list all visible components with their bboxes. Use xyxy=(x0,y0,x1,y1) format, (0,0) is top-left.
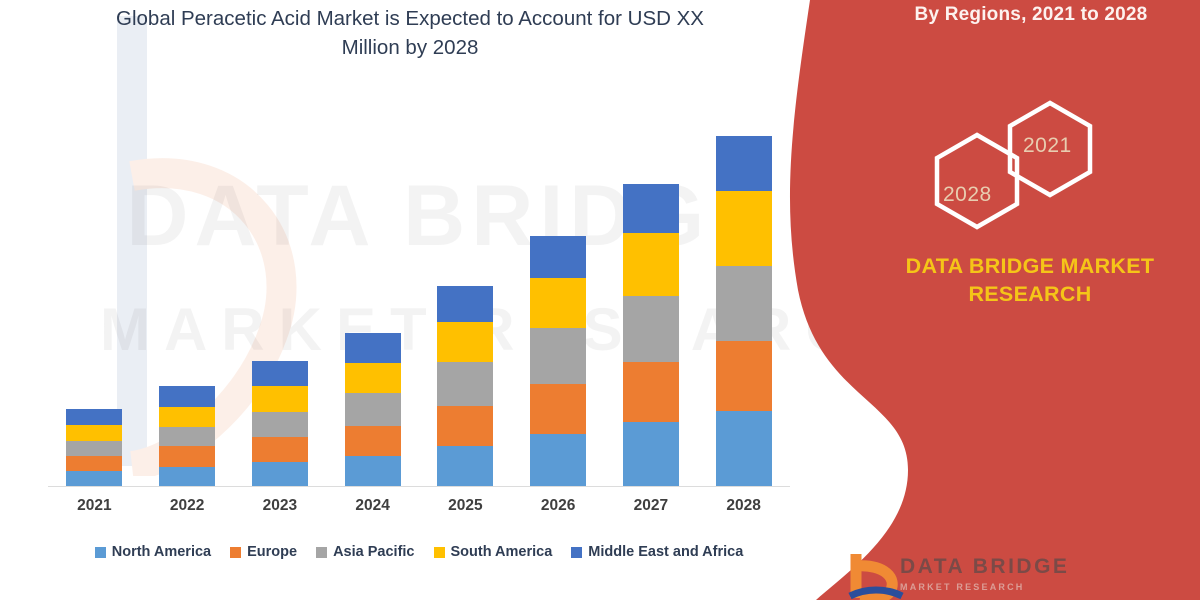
legend-swatch-icon xyxy=(95,547,106,558)
legend-swatch-icon xyxy=(230,547,241,558)
legend-item[interactable]: North America xyxy=(95,544,211,560)
logo-wordmark: DATA BRIDGE xyxy=(900,555,1069,579)
bar-segment xyxy=(623,184,679,233)
x-tick-2022: 2022 xyxy=(159,497,215,525)
bar-segment xyxy=(437,322,493,362)
bar-segment xyxy=(159,427,215,446)
legend-item[interactable]: Middle East and Africa xyxy=(571,544,743,560)
bar-segment xyxy=(530,278,586,328)
bar-segment xyxy=(530,384,586,434)
hexagon-2021-label: 2021 xyxy=(1023,134,1072,158)
bar-segment xyxy=(623,233,679,296)
bar-segment xyxy=(623,422,679,486)
page-title: Global Peracetic Acid Market is Expected… xyxy=(110,4,710,62)
bar-segment xyxy=(437,406,493,446)
hexagon-2028-outline xyxy=(937,135,1017,227)
company-logo: DATA BRIDGE MARKET RESEARCH xyxy=(840,552,1170,600)
legend-label: North America xyxy=(112,544,211,560)
bar-segment xyxy=(159,467,215,486)
legend-item[interactable]: Europe xyxy=(230,544,297,560)
x-tick-2027: 2027 xyxy=(623,497,679,525)
bar-segment xyxy=(159,386,215,407)
bar-segment xyxy=(252,386,308,412)
bar-column-2021 xyxy=(66,120,122,486)
bar-segment xyxy=(716,136,772,191)
bar-segment xyxy=(66,409,122,425)
bar-segment xyxy=(345,363,401,393)
bar-segment xyxy=(716,411,772,486)
x-tick-2023: 2023 xyxy=(252,497,308,525)
bar-segment xyxy=(66,471,122,486)
x-axis-labels: 20212022202320242025202620272028 xyxy=(48,497,790,525)
bar-segment xyxy=(530,328,586,384)
bar-segment xyxy=(437,362,493,406)
infographic-canvas: DATA BRIDGE MARKET RESEARCH Global Perac… xyxy=(0,0,1200,600)
bar-column-2027 xyxy=(623,120,679,486)
brand-line-1: DATA BRIDGE MARKET xyxy=(880,252,1180,280)
logo-tagline: MARKET RESEARCH xyxy=(900,582,1025,592)
x-tick-2028: 2028 xyxy=(716,497,772,525)
legend-swatch-icon xyxy=(571,547,582,558)
bar-segment xyxy=(66,441,122,456)
bar-segment xyxy=(252,361,308,386)
bar-column-2022 xyxy=(159,120,215,486)
brand-line-2: RESEARCH xyxy=(880,280,1180,308)
bar-segment xyxy=(437,286,493,322)
bar-segment xyxy=(530,434,586,486)
legend-swatch-icon xyxy=(434,547,445,558)
hexagon-2028-label: 2028 xyxy=(943,183,992,207)
bar-column-2026 xyxy=(530,120,586,486)
legend-item[interactable]: South America xyxy=(434,544,553,560)
bar-segment xyxy=(716,191,772,266)
bar-column-2028 xyxy=(716,120,772,486)
bar-segment xyxy=(716,266,772,341)
x-tick-2024: 2024 xyxy=(345,497,401,525)
bar-segment xyxy=(66,456,122,471)
bar-segment xyxy=(345,393,401,426)
chart-legend: North AmericaEuropeAsia PacificSouth Ame… xyxy=(48,540,790,564)
bar-segment xyxy=(437,446,493,486)
x-tick-2021: 2021 xyxy=(66,497,122,525)
bar-segment xyxy=(716,341,772,411)
hexagon-badges: 2021 2028 xyxy=(915,95,1115,235)
bar-segment xyxy=(252,437,308,462)
x-axis-line xyxy=(48,486,790,487)
bar-segment xyxy=(66,425,122,441)
bar-segment xyxy=(623,296,679,362)
x-tick-2025: 2025 xyxy=(437,497,493,525)
legend-label: Middle East and Africa xyxy=(588,544,743,560)
bar-segment xyxy=(623,362,679,422)
legend-swatch-icon xyxy=(316,547,327,558)
legend-label: Asia Pacific xyxy=(333,544,414,560)
legend-label: South America xyxy=(451,544,553,560)
stacked-bar-group xyxy=(48,120,790,486)
panel-heading: By Regions, 2021 to 2028 xyxy=(862,4,1200,26)
bar-segment xyxy=(252,412,308,437)
bar-segment xyxy=(252,462,308,486)
bar-segment xyxy=(345,456,401,486)
bar-column-2023 xyxy=(252,120,308,486)
bar-segment xyxy=(159,407,215,427)
bar-column-2024 xyxy=(345,120,401,486)
bar-column-2025 xyxy=(437,120,493,486)
bar-segment xyxy=(530,236,586,278)
bar-segment xyxy=(159,446,215,467)
bar-segment xyxy=(345,426,401,456)
legend-item[interactable]: Asia Pacific xyxy=(316,544,414,560)
brand-name: DATA BRIDGE MARKET RESEARCH xyxy=(880,252,1180,309)
bar-segment xyxy=(345,333,401,363)
legend-label: Europe xyxy=(247,544,297,560)
chart-area: Global Peracetic Acid Market is Expected… xyxy=(0,0,820,600)
x-tick-2026: 2026 xyxy=(530,497,586,525)
